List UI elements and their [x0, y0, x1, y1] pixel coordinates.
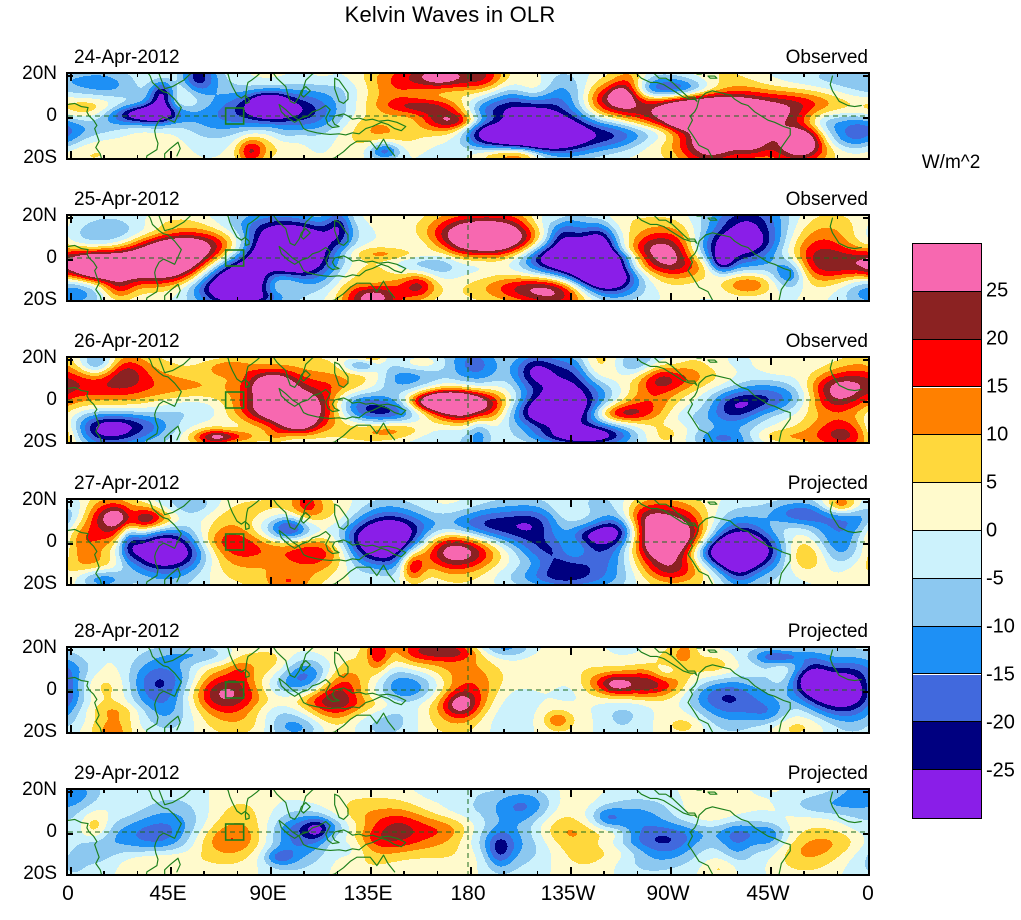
- colorbar-tick-label: -10: [986, 616, 1015, 639]
- x-axis-tick-minor: [303, 789, 305, 793]
- x-axis-tick-minor: [337, 581, 339, 585]
- x-axis-tick-minor: [837, 871, 839, 875]
- x-axis-tick-minor: [337, 215, 339, 219]
- x-axis-tick-major: [170, 151, 172, 159]
- x-axis-tick-major: [670, 215, 672, 223]
- map-plot-area: [66, 498, 870, 586]
- x-axis-tick-minor: [737, 871, 739, 875]
- colorbar-swatch: [913, 722, 981, 770]
- x-axis-tick-minor: [603, 155, 605, 159]
- map-plot-area: [66, 356, 870, 444]
- x-axis-tick-minor: [703, 215, 705, 219]
- x-axis-tick-minor: [737, 155, 739, 159]
- x-axis-tick-minor: [503, 729, 505, 733]
- x-axis-tick-major: [370, 435, 372, 443]
- colorbar-tick-label: 15: [986, 376, 1008, 399]
- x-axis-tick-major: [570, 725, 572, 733]
- x-axis-tick-minor: [603, 871, 605, 875]
- x-axis-tick-major: [470, 215, 472, 223]
- x-axis-tick-minor: [303, 73, 305, 77]
- x-axis-tick-minor: [837, 215, 839, 219]
- olr-anomaly-field: [68, 74, 868, 158]
- y-axis-tick: [863, 117, 869, 119]
- x-axis-tick-minor: [703, 789, 705, 793]
- y-axis-tick: [863, 75, 869, 77]
- x-axis-tick-minor: [137, 357, 139, 361]
- x-axis-tick-minor: [237, 871, 239, 875]
- panel-header: 24-Apr-2012Observed: [66, 47, 870, 71]
- x-axis-tick-major: [270, 215, 272, 223]
- x-axis-tick-minor: [603, 357, 605, 361]
- x-axis-tick-major: [470, 357, 472, 365]
- x-axis-tick-minor: [303, 729, 305, 733]
- colorbar-swatch: [913, 435, 981, 483]
- x-axis-tick-major: [770, 357, 772, 365]
- panel-status-label: Observed: [786, 189, 868, 211]
- x-axis-tick-major: [370, 357, 372, 365]
- x-axis-tick-major: [170, 577, 172, 585]
- y-axis-tick: [863, 649, 869, 651]
- y-axis-tick: [863, 833, 869, 835]
- x-axis-tick-minor: [803, 73, 805, 77]
- x-axis-tick-minor: [637, 789, 639, 793]
- panel-header: 25-Apr-2012Observed: [66, 189, 870, 213]
- x-axis-tick-minor: [203, 73, 205, 77]
- x-axis-tick-major: [70, 577, 72, 585]
- x-axis-tick-minor: [737, 729, 739, 733]
- olr-anomaly-field: [68, 500, 868, 584]
- x-axis-tick-minor: [637, 729, 639, 733]
- y-axis-label: 20N: [0, 205, 57, 227]
- x-axis-tick-major: [670, 151, 672, 159]
- colorbar-swatch: [913, 483, 981, 531]
- y-axis-tick: [863, 259, 869, 261]
- colorbar-swatch: [913, 388, 981, 436]
- x-axis-tick-minor: [803, 729, 805, 733]
- x-axis-tick-minor: [637, 581, 639, 585]
- x-axis-tick-major: [70, 73, 72, 81]
- x-axis-tick-minor: [203, 439, 205, 443]
- x-axis-tick-major: [470, 435, 472, 443]
- x-axis-tick-minor: [603, 647, 605, 651]
- x-axis-tick-minor: [703, 155, 705, 159]
- x-axis-tick-minor: [537, 297, 539, 301]
- x-axis-tick-major: [70, 725, 72, 733]
- x-axis-tick-minor: [437, 73, 439, 77]
- x-axis-tick-major: [270, 789, 272, 797]
- x-axis-tick-minor: [803, 581, 805, 585]
- x-axis-tick-major: [270, 499, 272, 507]
- x-axis-tick-major: [770, 151, 772, 159]
- x-axis-label: 135E: [343, 882, 392, 906]
- y-axis-label: 0: [0, 821, 57, 843]
- x-axis-tick-major: [670, 499, 672, 507]
- y-axis-label: 0: [0, 105, 57, 127]
- x-axis-tick-minor: [503, 73, 505, 77]
- x-axis-tick-minor: [337, 789, 339, 793]
- colorbar: [912, 243, 982, 819]
- x-axis-tick-major: [370, 215, 372, 223]
- x-axis-tick-minor: [737, 647, 739, 651]
- x-axis-tick-minor: [403, 871, 405, 875]
- x-axis-tick-minor: [103, 729, 105, 733]
- y-axis-label: 20S: [0, 147, 57, 169]
- olr-anomaly-field: [68, 648, 868, 732]
- x-axis-tick-minor: [337, 357, 339, 361]
- x-axis-label: 90E: [249, 882, 286, 906]
- colorbar-tick-labels: 2520151050-5-10-15-20-25: [986, 243, 1021, 819]
- y-axis-label: 20N: [0, 779, 57, 801]
- colorbar-tick-label: -5: [986, 568, 1004, 591]
- x-axis-tick-minor: [837, 581, 839, 585]
- x-axis-tick-minor: [603, 729, 605, 733]
- x-axis-tick-minor: [837, 729, 839, 733]
- x-axis-tick-major: [370, 73, 372, 81]
- x-axis-tick-minor: [103, 155, 105, 159]
- panel-status-label: Projected: [788, 473, 868, 495]
- colorbar-swatch: [913, 627, 981, 675]
- y-axis-tick: [67, 301, 73, 302]
- x-axis-tick-major: [170, 499, 172, 507]
- x-axis-tick-minor: [337, 729, 339, 733]
- x-axis-tick-minor: [303, 439, 305, 443]
- x-axis-tick-minor: [303, 647, 305, 651]
- x-axis-tick-major: [270, 293, 272, 301]
- x-axis-tick-minor: [403, 789, 405, 793]
- x-axis-tick-minor: [537, 647, 539, 651]
- y-axis-label: 20S: [0, 431, 57, 453]
- x-axis-tick-minor: [837, 647, 839, 651]
- x-axis-tick-minor: [103, 647, 105, 651]
- x-axis-tick-major: [170, 215, 172, 223]
- x-axis-tick-major: [470, 499, 472, 507]
- x-axis-tick-major: [770, 293, 772, 301]
- x-axis-tick-minor: [837, 297, 839, 301]
- x-axis-tick-major: [570, 789, 572, 797]
- x-axis-tick-minor: [403, 439, 405, 443]
- y-axis-tick: [863, 443, 869, 444]
- colorbar-swatch: [913, 292, 981, 340]
- x-axis-tick-minor: [203, 297, 205, 301]
- y-axis-tick: [67, 833, 73, 835]
- colorbar-tick-label: 20: [986, 328, 1008, 351]
- x-axis-tick-minor: [537, 789, 539, 793]
- x-axis-tick-minor: [203, 499, 205, 503]
- x-axis-tick-minor: [703, 357, 705, 361]
- x-axis-labels: 045E90E135E180135W90W45W0: [66, 882, 870, 912]
- x-axis-tick-major: [670, 577, 672, 585]
- x-axis-tick-major: [670, 435, 672, 443]
- x-axis-tick-minor: [437, 215, 439, 219]
- y-axis-label: 20N: [0, 347, 57, 369]
- x-axis-tick-major: [370, 499, 372, 507]
- x-axis-tick-major: [70, 357, 72, 365]
- x-axis-tick-minor: [303, 215, 305, 219]
- x-axis-tick-minor: [437, 789, 439, 793]
- x-axis-tick-minor: [237, 581, 239, 585]
- x-axis-tick-major: [170, 647, 172, 655]
- y-axis-label: 20N: [0, 637, 57, 659]
- x-axis-tick-minor: [403, 297, 405, 301]
- x-axis-label: 0: [862, 882, 874, 906]
- x-axis-tick-minor: [503, 297, 505, 301]
- x-axis-tick-minor: [203, 789, 205, 793]
- x-axis-tick-major: [270, 647, 272, 655]
- colorbar-tick-label: -15: [986, 664, 1015, 687]
- map-plot-area: [66, 788, 870, 876]
- x-axis-tick-minor: [637, 357, 639, 361]
- x-axis-tick-major: [770, 577, 772, 585]
- x-axis-tick-major: [470, 577, 472, 585]
- x-axis-tick-minor: [203, 647, 205, 651]
- x-axis-tick-minor: [537, 439, 539, 443]
- y-axis-tick: [863, 359, 869, 361]
- x-axis-tick-minor: [237, 729, 239, 733]
- colorbar-tick-label: 0: [986, 520, 997, 543]
- y-axis-tick: [863, 159, 869, 160]
- x-axis-tick-major: [470, 73, 472, 81]
- y-axis-label: 20N: [0, 63, 57, 85]
- olr-anomaly-field: [68, 216, 868, 300]
- x-axis-tick-major: [370, 725, 372, 733]
- x-axis-tick-minor: [103, 439, 105, 443]
- y-axis-tick: [67, 543, 73, 545]
- panel-date-label: 24-Apr-2012: [74, 47, 180, 69]
- x-axis-tick-minor: [203, 871, 205, 875]
- x-axis-tick-major: [70, 499, 72, 507]
- x-axis-tick-major: [770, 73, 772, 81]
- x-axis-tick-major: [270, 435, 272, 443]
- x-axis-tick-major: [170, 73, 172, 81]
- panel-header: 29-Apr-2012Projected: [66, 763, 870, 787]
- x-axis-tick-minor: [303, 357, 305, 361]
- x-axis-tick-minor: [703, 499, 705, 503]
- x-axis-tick-major: [70, 867, 72, 875]
- y-axis-label: 0: [0, 679, 57, 701]
- x-axis-tick-minor: [437, 729, 439, 733]
- colorbar-unit-label: W/m^2: [888, 152, 1014, 174]
- y-axis-tick: [863, 301, 869, 302]
- y-axis-label: 20S: [0, 573, 57, 595]
- x-axis-tick-minor: [803, 439, 805, 443]
- x-axis-label: 90W: [646, 882, 689, 906]
- x-axis-tick-minor: [637, 647, 639, 651]
- x-axis-tick-major: [570, 73, 572, 81]
- x-axis-tick-minor: [837, 439, 839, 443]
- x-axis-tick-major: [70, 789, 72, 797]
- x-axis-tick-major: [370, 789, 372, 797]
- olr-anomaly-field: [68, 790, 868, 874]
- x-axis-tick-major: [70, 151, 72, 159]
- x-axis-tick-minor: [737, 357, 739, 361]
- y-axis-label: 20N: [0, 489, 57, 511]
- x-axis-tick-major: [370, 293, 372, 301]
- x-axis-tick-minor: [337, 499, 339, 503]
- x-axis-tick-major: [270, 577, 272, 585]
- x-axis-tick-major: [270, 73, 272, 81]
- x-axis-tick-minor: [437, 439, 439, 443]
- x-axis-tick-major: [170, 867, 172, 875]
- x-axis-tick-major: [670, 293, 672, 301]
- colorbar-swatch: [913, 675, 981, 723]
- y-axis-tick: [67, 443, 73, 444]
- x-axis-tick-major: [470, 151, 472, 159]
- x-axis-tick-minor: [237, 357, 239, 361]
- panel-date-label: 26-Apr-2012: [74, 331, 180, 353]
- panel-date-label: 27-Apr-2012: [74, 473, 180, 495]
- x-axis-tick-minor: [103, 871, 105, 875]
- x-axis-tick-minor: [603, 581, 605, 585]
- x-axis-tick-minor: [603, 439, 605, 443]
- x-axis-tick-minor: [503, 357, 505, 361]
- x-axis-tick-minor: [403, 729, 405, 733]
- x-axis-tick-minor: [537, 581, 539, 585]
- colorbar-swatch: [913, 340, 981, 388]
- x-axis-tick-major: [770, 725, 772, 733]
- y-axis-label: 0: [0, 247, 57, 269]
- y-axis-label: 20S: [0, 863, 57, 885]
- x-axis-tick-minor: [537, 871, 539, 875]
- x-axis-tick-minor: [137, 647, 139, 651]
- x-axis-tick-major: [670, 867, 672, 875]
- x-axis-tick-major: [470, 725, 472, 733]
- x-axis-tick-minor: [403, 357, 405, 361]
- x-axis-tick-minor: [803, 297, 805, 301]
- x-axis-tick-minor: [503, 499, 505, 503]
- x-axis-tick-minor: [637, 297, 639, 301]
- y-axis-tick: [67, 585, 73, 586]
- x-axis-tick-minor: [703, 871, 705, 875]
- map-plot-area: [66, 214, 870, 302]
- x-axis-label: 135W: [541, 882, 596, 906]
- y-axis-tick: [863, 691, 869, 693]
- x-axis-tick-minor: [803, 215, 805, 219]
- x-axis-tick-major: [70, 647, 72, 655]
- x-axis-tick-minor: [103, 215, 105, 219]
- x-axis-tick-minor: [137, 215, 139, 219]
- x-axis-tick-minor: [237, 215, 239, 219]
- y-axis-tick: [863, 501, 869, 503]
- x-axis-tick-minor: [337, 647, 339, 651]
- x-axis-tick-minor: [737, 297, 739, 301]
- x-axis-tick-minor: [403, 581, 405, 585]
- x-axis-tick-major: [670, 647, 672, 655]
- x-axis-tick-major: [170, 293, 172, 301]
- x-axis-tick-minor: [337, 155, 339, 159]
- x-axis-tick-minor: [637, 155, 639, 159]
- y-axis-tick: [67, 259, 73, 261]
- x-axis-tick-major: [70, 293, 72, 301]
- x-axis-tick-major: [370, 647, 372, 655]
- x-axis-tick-major: [770, 647, 772, 655]
- x-axis-tick-major: [570, 499, 572, 507]
- x-axis-tick-minor: [703, 581, 705, 585]
- x-axis-tick-minor: [203, 215, 205, 219]
- x-axis-tick-minor: [637, 215, 639, 219]
- colorbar-swatch: [913, 244, 981, 292]
- x-axis-tick-minor: [703, 297, 705, 301]
- x-axis-tick-major: [770, 435, 772, 443]
- x-axis-tick-major: [270, 725, 272, 733]
- x-axis-tick-minor: [303, 297, 305, 301]
- x-axis-tick-minor: [137, 73, 139, 77]
- x-axis-tick-major: [670, 725, 672, 733]
- map-plot-area: [66, 646, 870, 734]
- x-axis-tick-major: [570, 215, 572, 223]
- x-axis-tick-minor: [203, 729, 205, 733]
- colorbar-tick-label: 5: [986, 472, 997, 495]
- x-axis-tick-minor: [737, 73, 739, 77]
- x-axis-tick-minor: [737, 581, 739, 585]
- x-axis-tick-major: [370, 867, 372, 875]
- x-axis-tick-minor: [803, 871, 805, 875]
- x-axis-tick-minor: [737, 499, 739, 503]
- y-axis-tick: [863, 875, 869, 876]
- x-axis-label: 45E: [149, 882, 186, 906]
- x-axis-tick-minor: [603, 789, 605, 793]
- x-axis-label: 45W: [746, 882, 789, 906]
- x-axis-tick-minor: [303, 581, 305, 585]
- y-axis-label: 20S: [0, 289, 57, 311]
- x-axis-tick-major: [70, 435, 72, 443]
- x-axis-tick-minor: [137, 155, 139, 159]
- x-axis-tick-major: [670, 789, 672, 797]
- x-axis-tick-minor: [337, 297, 339, 301]
- x-axis-tick-minor: [203, 581, 205, 585]
- x-axis-tick-minor: [503, 647, 505, 651]
- x-axis-tick-minor: [403, 155, 405, 159]
- x-axis-tick-minor: [103, 499, 105, 503]
- colorbar-tick-label: -20: [986, 712, 1015, 735]
- x-axis-tick-minor: [503, 155, 505, 159]
- x-axis-tick-minor: [537, 155, 539, 159]
- x-axis-tick-minor: [103, 581, 105, 585]
- y-axis-label: 0: [0, 531, 57, 553]
- map-plot-area: [66, 72, 870, 160]
- colorbar-tick-label: 25: [986, 280, 1008, 303]
- x-axis-tick-minor: [137, 581, 139, 585]
- x-axis-tick-major: [470, 867, 472, 875]
- x-axis-tick-major: [770, 499, 772, 507]
- x-axis-tick-minor: [637, 439, 639, 443]
- x-axis-tick-minor: [103, 357, 105, 361]
- x-axis-tick-minor: [803, 789, 805, 793]
- x-axis-tick-minor: [403, 73, 405, 77]
- y-axis-tick: [67, 159, 73, 160]
- x-axis-tick-major: [370, 151, 372, 159]
- x-axis-tick-minor: [303, 155, 305, 159]
- x-axis-tick-minor: [737, 439, 739, 443]
- x-axis-tick-minor: [603, 215, 605, 219]
- y-axis-tick: [863, 217, 869, 219]
- x-axis-tick-major: [570, 867, 572, 875]
- x-axis-label: 0: [62, 882, 74, 906]
- panel-status-label: Observed: [786, 47, 868, 69]
- colorbar-tick-label: 10: [986, 424, 1008, 447]
- x-axis-tick-minor: [837, 499, 839, 503]
- x-axis-tick-minor: [737, 215, 739, 219]
- panel-date-label: 29-Apr-2012: [74, 763, 180, 785]
- y-axis-tick: [67, 117, 73, 119]
- x-axis-tick-major: [370, 577, 372, 585]
- x-axis-tick-major: [170, 725, 172, 733]
- y-axis-label: 20S: [0, 721, 57, 743]
- y-axis-tick: [863, 401, 869, 403]
- x-axis-tick-minor: [137, 499, 139, 503]
- x-axis-tick-minor: [237, 647, 239, 651]
- x-axis-tick-minor: [803, 499, 805, 503]
- x-axis-tick-minor: [837, 357, 839, 361]
